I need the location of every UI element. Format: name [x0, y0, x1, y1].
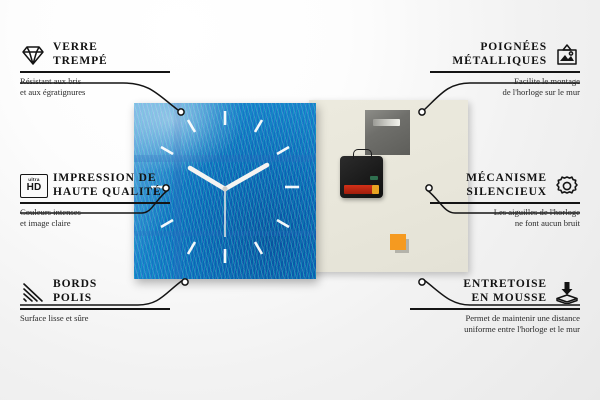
title-underline: [20, 71, 170, 73]
title-underline: [20, 202, 170, 204]
feature-title: BORDS POLIS: [53, 278, 97, 305]
clock-mechanism: [340, 156, 383, 198]
feature-header: MÉCANISME SILENCIEUX: [420, 172, 580, 199]
feature-header: BORDS POLIS: [20, 278, 180, 305]
title-underline: [430, 202, 580, 204]
feature-header: POIGNÉES MÉTALLIQUES: [420, 41, 580, 68]
feature-header: ultra HD IMPRESSION DE HAUTE QUALITÉ: [20, 172, 180, 199]
feature-description: Facilite le montage de l'horloge sur le …: [420, 76, 580, 99]
feature-description: Surface lisse et sûre: [20, 313, 180, 325]
hanger-slot: [373, 119, 400, 126]
feature-title: POIGNÉES MÉTALLIQUES: [452, 41, 547, 68]
hanging-loop: [353, 149, 372, 159]
picture-hanger-icon: [554, 43, 580, 67]
infographic-canvas: VERRE TREMPÉ Résistant aux bris et aux é…: [0, 0, 600, 400]
mechanism-chip: [370, 176, 378, 180]
feature-impression-haute-qualite: ultra HD IMPRESSION DE HAUTE QUALITÉ Cou…: [20, 172, 180, 230]
feature-title: IMPRESSION DE HAUTE QUALITÉ: [53, 172, 162, 199]
feature-header: VERRE TREMPÉ: [20, 41, 180, 68]
feature-description: Couleurs intenses et image claire: [20, 207, 180, 230]
ultra-hd-icon: ultra HD: [20, 174, 46, 198]
battery: [344, 185, 373, 194]
gear-icon: [554, 174, 580, 198]
foam-spacer-icon: [554, 280, 580, 304]
feature-bords-polis: BORDS POLIS Surface lisse et sûre: [20, 278, 180, 324]
title-underline: [430, 71, 580, 73]
metal-hanger-plate: [365, 110, 410, 155]
diamond-icon: [20, 43, 46, 67]
battery-terminal: [372, 185, 379, 194]
feature-description: Permet de maintenir une distance uniform…: [400, 313, 580, 336]
feature-title: ENTRETOISE EN MOUSSE: [463, 278, 547, 305]
title-underline: [410, 308, 580, 310]
product-image: [134, 100, 468, 280]
feature-verre-trempe: VERRE TREMPÉ Résistant aux bris et aux é…: [20, 41, 180, 99]
feature-entretoise-en-mousse: ENTRETOISE EN MOUSSE Permet de maintenir…: [400, 278, 580, 336]
feature-description: Les aiguilles de l'horloge ne font aucun…: [420, 207, 580, 230]
feature-title: VERRE TREMPÉ: [53, 41, 108, 68]
feature-description: Résistant aux bris et aux égratignures: [20, 76, 180, 99]
feature-poignees-metalliques: POIGNÉES MÉTALLIQUES Facilite le montage…: [420, 41, 580, 99]
feature-title: MÉCANISME SILENCIEUX: [466, 172, 547, 199]
title-underline: [20, 308, 170, 310]
feature-header: ENTRETOISE EN MOUSSE: [400, 278, 580, 305]
feature-mecanisme-silencieux: MÉCANISME SILENCIEUX Les aiguilles de l'…: [420, 172, 580, 230]
foam-spacer: [390, 234, 406, 250]
polished-edge-icon: [20, 280, 46, 304]
